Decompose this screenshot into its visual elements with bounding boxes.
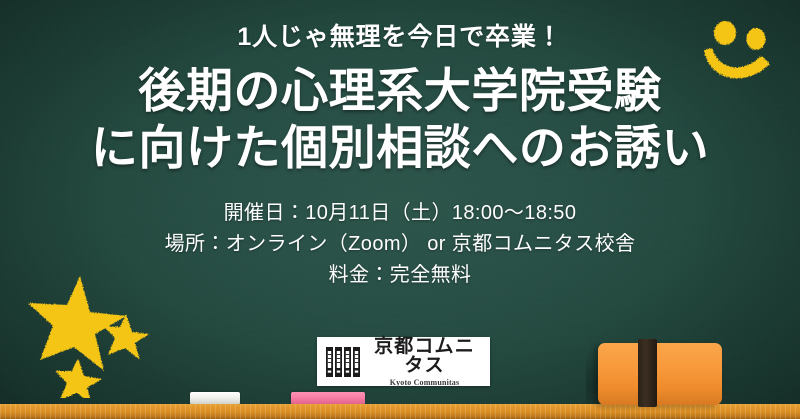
kicker-text: 1人じゃ無理を今日で卒業！ xyxy=(0,22,800,52)
ledge-dust xyxy=(0,404,800,419)
chalk-stick-pink xyxy=(291,392,365,404)
eraser-body xyxy=(598,343,722,405)
logo-text: 京都コムニタス Kyoto Communitas xyxy=(365,337,490,387)
eraser-strap xyxy=(638,339,657,407)
event-venue: 場所：オンライン（Zoom） or 京都コムニタス校舎 xyxy=(0,229,800,260)
logo-name-jp: 京都コムニタス xyxy=(365,337,484,375)
chalk-stick-white xyxy=(190,392,240,404)
event-fee: 料金：完全無料 xyxy=(0,260,800,291)
kyoto-communitas-mark-icon xyxy=(325,347,365,377)
page-title: 後期の心理系大学院受験 に向けた個別相談へのお誘い xyxy=(0,62,800,177)
stars-icon xyxy=(22,272,157,398)
chalk-ledge xyxy=(0,404,800,419)
event-details: 開催日：10月11日（土）18:00〜18:50 場所：オンライン（Zoom） … xyxy=(0,198,800,291)
text-block: 1人じゃ無理を今日で卒業！ 後期の心理系大学院受験 に向けた個別相談へのお誘い … xyxy=(0,22,800,291)
seminar-announcement-banner: 1人じゃ無理を今日で卒業！ 後期の心理系大学院受験 に向けた個別相談へのお誘い … xyxy=(0,0,800,419)
event-date: 開催日：10月11日（土）18:00〜18:50 xyxy=(0,198,800,229)
logo: 京都コムニタス Kyoto Communitas xyxy=(317,337,490,386)
logo-name-en: Kyoto Communitas xyxy=(365,379,484,387)
headline-line-2: に向けた個別相談へのお誘い xyxy=(0,119,800,176)
blackboard-eraser-icon xyxy=(598,343,722,405)
headline-line-1: 後期の心理系大学院受験 xyxy=(0,62,800,119)
